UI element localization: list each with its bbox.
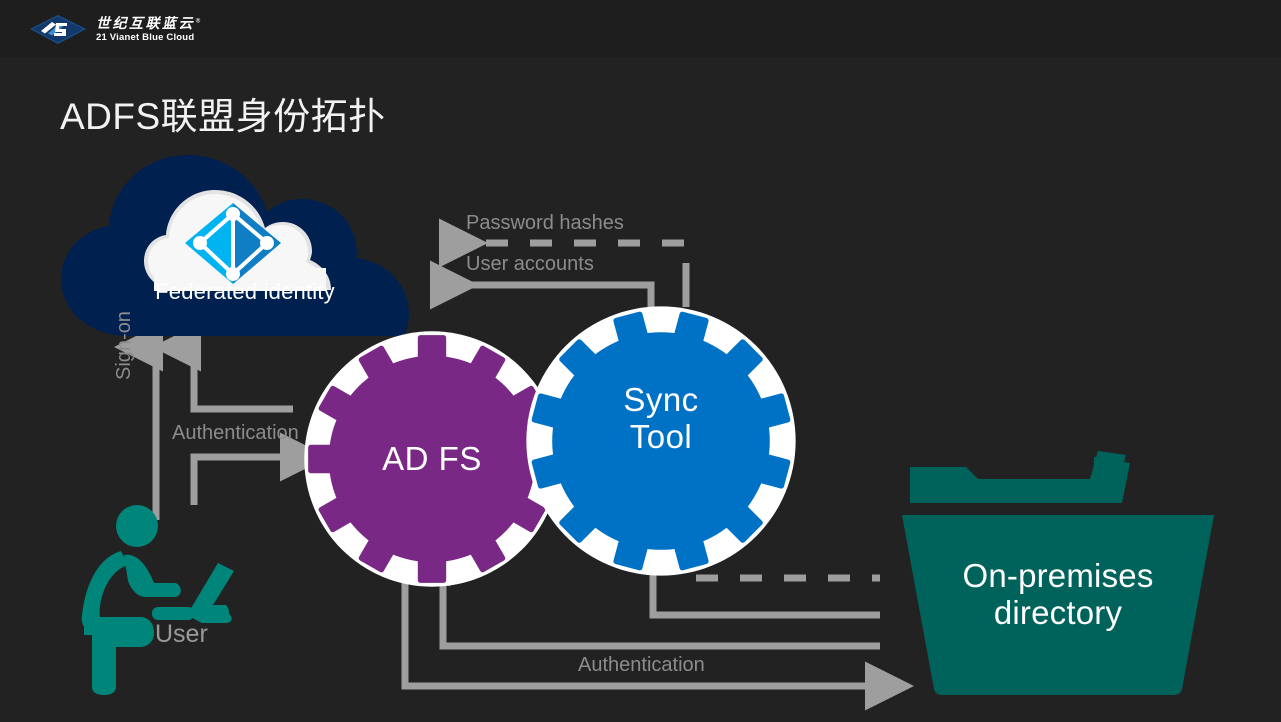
user-at-computer-icon — [74, 505, 254, 695]
connector-label-sign-on: Sign-on — [113, 311, 136, 380]
user-label: User — [155, 620, 208, 649]
connector-label-password-hashes: Password hashes — [466, 212, 624, 235]
node-sync-tool-gear[interactable] — [525, 305, 797, 577]
slide-canvas: 世纪互联蓝云® 21 Vianet Blue Cloud ADFS联盟身份拓扑 — [0, 0, 1281, 722]
node-adfs-gear[interactable] — [303, 330, 561, 588]
connector-authentication-left-right — [194, 457, 287, 505]
cloud-shape — [55, 148, 435, 338]
connector-authentication-left-up — [194, 347, 293, 409]
gear-shape-adfs — [303, 330, 561, 588]
node-user[interactable] — [74, 505, 254, 695]
on-premises-directory-label: On-premises directory — [898, 558, 1218, 632]
connector-label-authentication-left: Authentication — [172, 422, 299, 445]
node-federated-identity[interactable]: Federated identity — [55, 148, 435, 338]
cloud-label: Federated identity — [55, 279, 435, 305]
connector-label-user-accounts: User accounts — [466, 253, 594, 276]
connector-label-authentication-bottom: Authentication — [578, 654, 705, 677]
on-prem-label-line2: directory — [898, 595, 1218, 632]
gear-shape-sync — [525, 305, 797, 577]
on-prem-label-line1: On-premises — [898, 558, 1218, 595]
